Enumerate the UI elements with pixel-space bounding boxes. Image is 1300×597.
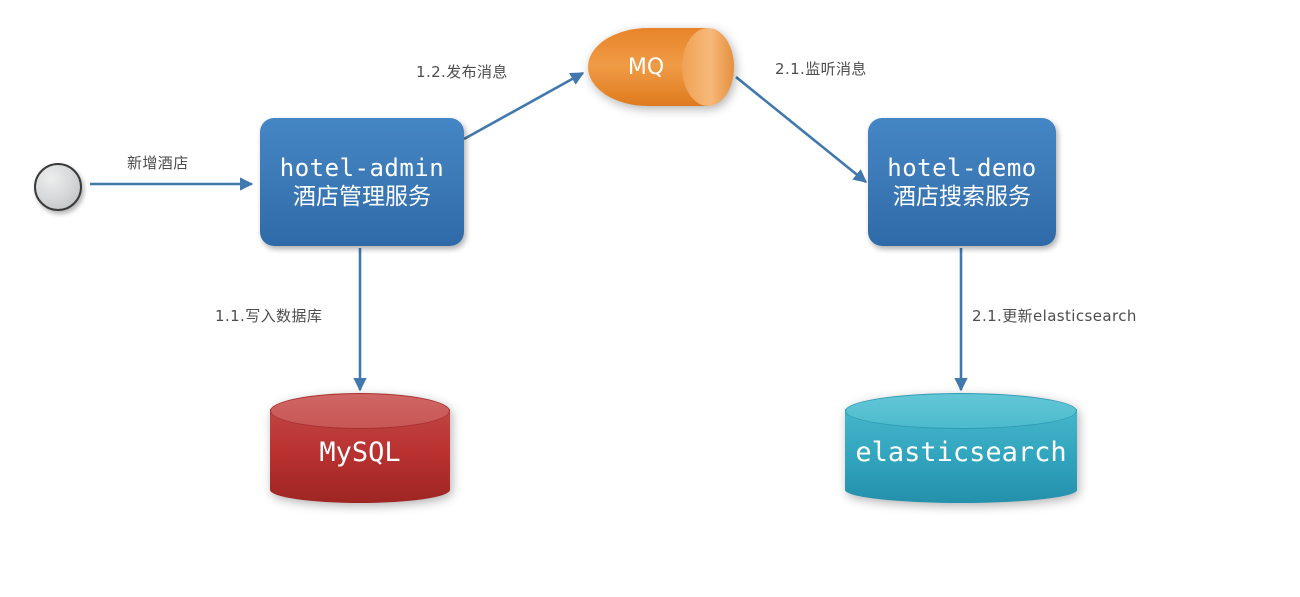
node-hotel-admin-title: hotel-admin (280, 153, 444, 183)
edge-label-mq-to-demo: 2.1.监听消息 (775, 58, 867, 79)
node-elasticsearch[interactable]: elasticsearch (845, 393, 1077, 503)
node-hotel-demo-title: hotel-demo (887, 153, 1037, 183)
node-hotel-admin[interactable]: hotel-admin 酒店管理服务 (260, 118, 464, 246)
edge-admin-to-mq (464, 73, 583, 139)
start-actor-node[interactable] (34, 163, 82, 211)
node-hotel-demo[interactable]: hotel-demo 酒店搜索服务 (868, 118, 1056, 246)
node-elasticsearch-label: elasticsearch (845, 437, 1077, 468)
diagram-canvas: hotel-admin 酒店管理服务 hotel-demo 酒店搜索服务 MQ … (0, 0, 1300, 597)
edge-mq-to-demo (736, 77, 866, 182)
node-mq-label: MQ (588, 55, 704, 80)
edge-label-admin-to-mq: 1.2.发布消息 (416, 61, 508, 82)
mysql-cylinder-top (270, 393, 450, 429)
edge-label-admin-to-mysql: 1.1.写入数据库 (215, 305, 322, 326)
edge-label-actor-to-admin: 新增酒店 (127, 152, 189, 173)
node-hotel-demo-subtitle: 酒店搜索服务 (893, 183, 1031, 212)
es-cylinder-top (845, 393, 1077, 429)
edge-label-demo-to-es: 2.1.更新elasticsearch (972, 305, 1137, 326)
node-mq[interactable]: MQ (588, 28, 734, 106)
node-hotel-admin-subtitle: 酒店管理服务 (293, 183, 431, 212)
node-mysql-label: MySQL (270, 437, 450, 468)
node-mysql[interactable]: MySQL (270, 393, 450, 503)
